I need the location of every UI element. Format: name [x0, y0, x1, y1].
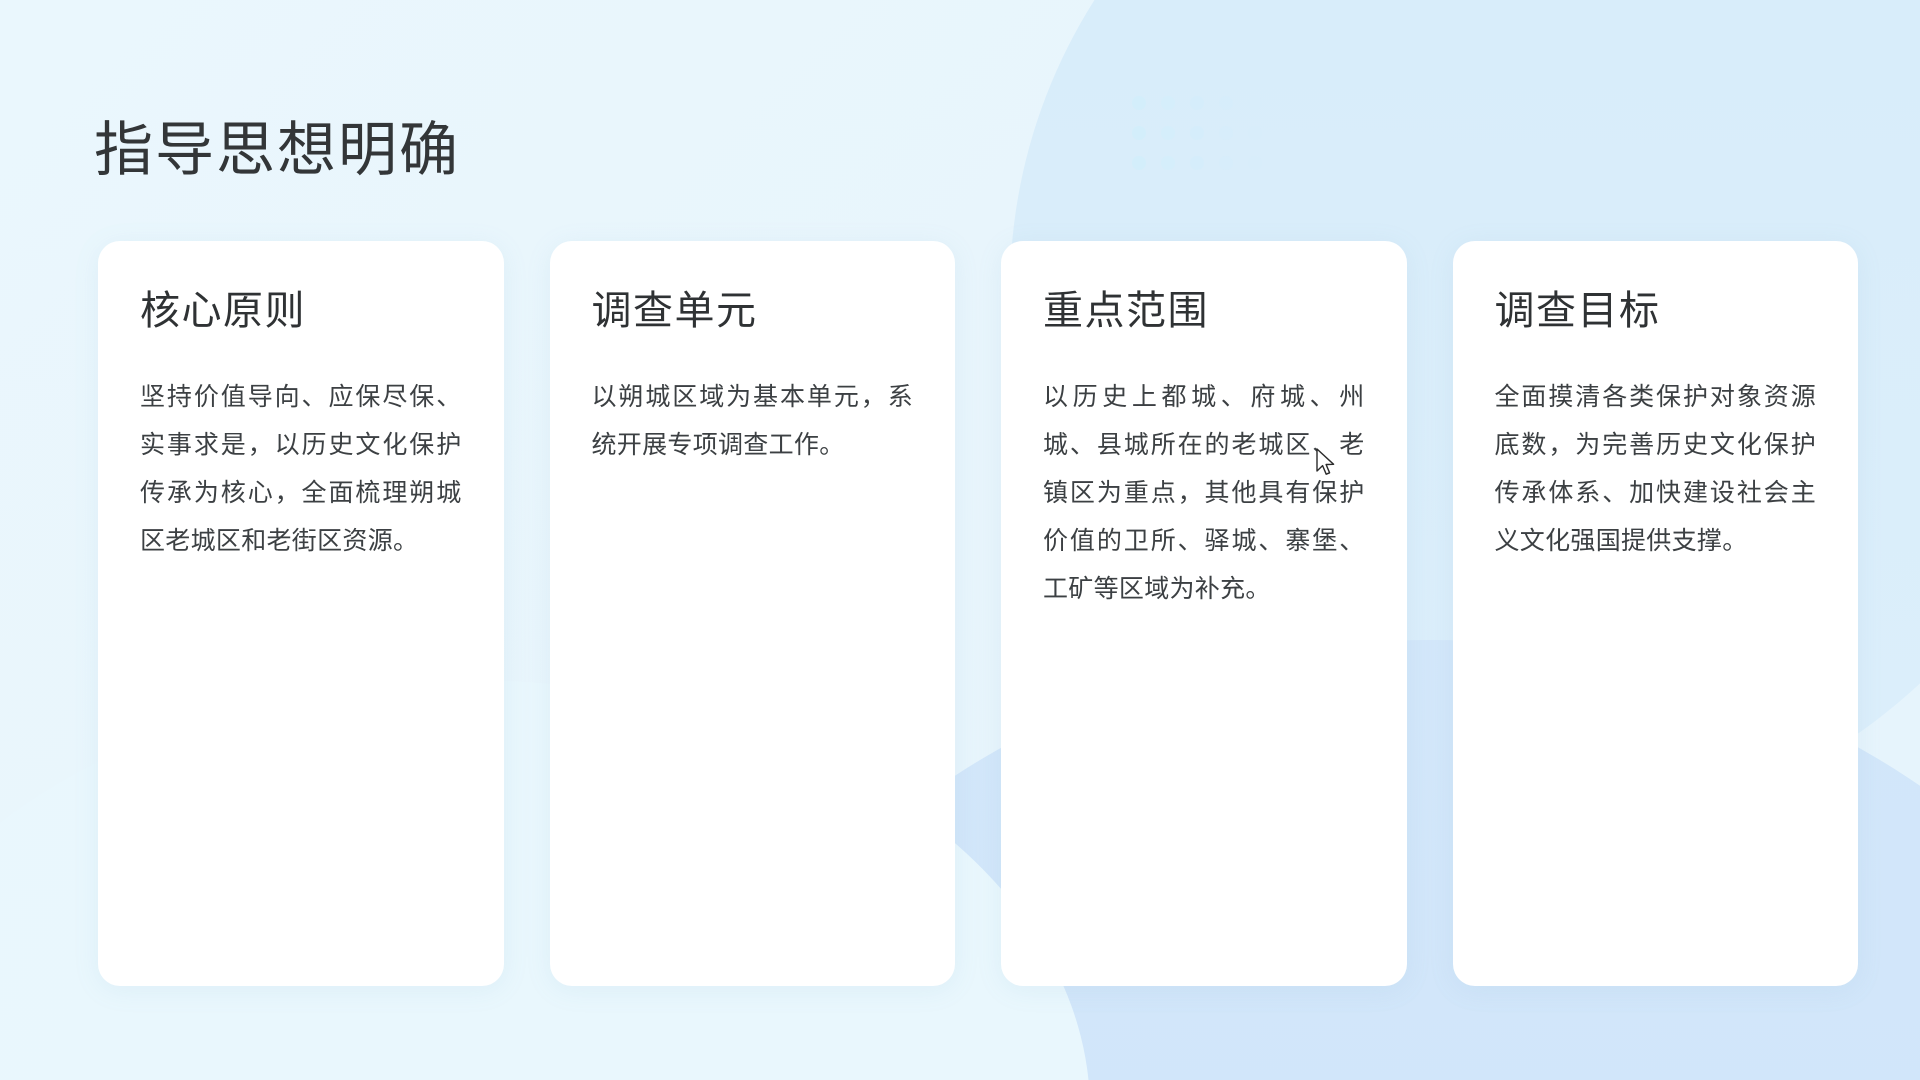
dot-grid-dot: [1219, 156, 1233, 170]
card-body-text: 以历史上都城、府城、州城、县城所在的老城区、老镇区为重点，其他具有保护价值的卫所…: [1043, 373, 1365, 613]
dot-grid-dot: [1132, 96, 1146, 110]
card-title: 重点范围: [1043, 287, 1365, 335]
card-survey-unit[interactable]: 调查单元 以朔城区域为基本单元，系统开展专项调查工作。: [550, 241, 956, 986]
card-body-text: 以朔城区域为基本单元，系统开展专项调查工作。: [592, 373, 914, 469]
card-body-text: 全面摸清各类保护对象资源底数，为完善历史文化保护传承体系、加快建设社会主义文化强…: [1495, 373, 1817, 565]
dot-grid-dot: [1190, 156, 1204, 170]
dot-grid-dot: [1161, 96, 1175, 110]
dot-grid-dot: [1161, 126, 1175, 140]
card-core-principle[interactable]: 核心原则 坚持价值导向、应保尽保、实事求是，以历史文化保护传承为核心，全面梳理朔…: [98, 241, 504, 986]
card-row: 核心原则 坚持价值导向、应保尽保、实事求是，以历史文化保护传承为核心，全面梳理朔…: [98, 241, 1858, 986]
dot-grid-dot: [1219, 96, 1233, 110]
card-title: 调查单元: [592, 287, 914, 335]
dot-grid-dot: [1248, 96, 1262, 110]
dot-grid-icon: [1132, 96, 1260, 170]
card-key-scope[interactable]: 重点范围 以历史上都城、府城、州城、县城所在的老城区、老镇区为重点，其他具有保护…: [1001, 241, 1407, 986]
dot-grid-dot: [1190, 126, 1204, 140]
dot-grid-dot: [1161, 156, 1175, 170]
dot-grid-dot: [1132, 126, 1146, 140]
dot-grid-dot: [1248, 156, 1262, 170]
card-body-text: 坚持价值导向、应保尽保、实事求是，以历史文化保护传承为核心，全面梳理朔城区老城区…: [140, 373, 462, 565]
dot-grid-dot: [1248, 126, 1262, 140]
card-survey-goal[interactable]: 调查目标 全面摸清各类保护对象资源底数，为完善历史文化保护传承体系、加快建设社会…: [1453, 241, 1859, 986]
dot-grid-dot: [1190, 96, 1204, 110]
dot-grid-dot: [1219, 126, 1233, 140]
page-title: 指导思想明确: [94, 117, 460, 185]
slide-canvas: 指导思想明确 核心原则 坚持价值导向、应保尽保、实事求是，以历史文化保护传承为核…: [0, 0, 1920, 1080]
card-title: 调查目标: [1495, 287, 1817, 335]
card-title: 核心原则: [140, 287, 462, 335]
dot-grid-dot: [1132, 156, 1146, 170]
